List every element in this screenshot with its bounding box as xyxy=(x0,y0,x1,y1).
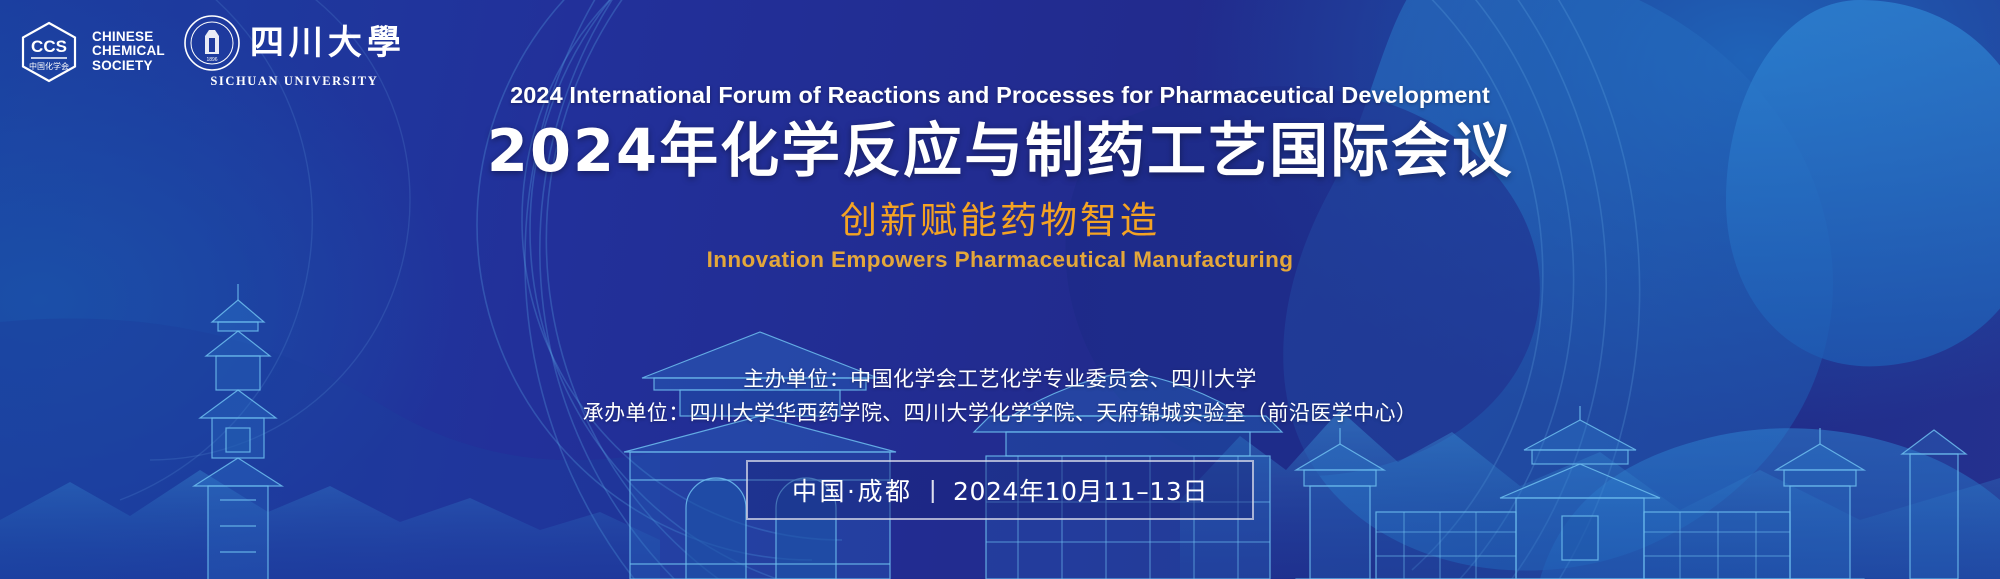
headline-block: 2024 International Forum of Reactions an… xyxy=(0,82,2000,273)
ccs-name-line-3: SOCIETY xyxy=(92,59,165,73)
ccs-name-line-2: CHEMICAL xyxy=(92,44,165,58)
event-info-pill: 中国·成都 | 2024年10月11–13日 xyxy=(746,460,1254,520)
ccs-hex-badge-icon: CCS 中国化学会 xyxy=(18,21,80,83)
host-organizer-line: 主办单位：中国化学会工艺化学专业委员会、四川大学 xyxy=(0,362,2000,396)
tagline-en: Innovation Empowers Pharmaceutical Manuf… xyxy=(0,247,2000,273)
scu-name-cn: 四川大學 xyxy=(250,26,406,60)
svg-text:1896: 1896 xyxy=(206,57,217,63)
organizer-block: 主办单位：中国化学会工艺化学专业委员会、四川大学 承办单位：四川大学华西药学院、… xyxy=(0,362,2000,430)
svg-text:中国化学会: 中国化学会 xyxy=(29,61,69,71)
ccs-logo[interactable]: CCS 中国化学会 CHINESE CHEMICAL SOCIETY xyxy=(18,21,165,83)
conference-title-cn: 2024年化学反应与制药工艺国际会议 xyxy=(0,119,2000,183)
conference-banner: CCS 中国化学会 CHINESE CHEMICAL SOCIETY xyxy=(0,0,2000,579)
sichuan-university-logo[interactable]: 1896 四川大學 SICHUAN UNIVERSITY xyxy=(183,14,406,89)
pill-separator: | xyxy=(929,476,936,505)
scu-seal-icon: 1896 xyxy=(183,14,241,72)
tagline-cn: 创新赋能药物智造 xyxy=(0,201,2000,242)
svg-text:CCS: CCS xyxy=(31,37,67,56)
event-location: 中国·成都 xyxy=(792,472,912,508)
logo-group: CCS 中国化学会 CHINESE CHEMICAL SOCIETY xyxy=(18,14,406,89)
english-forum-title: 2024 International Forum of Reactions an… xyxy=(0,82,2000,109)
event-dates: 2024年10月11–13日 xyxy=(953,472,1208,508)
ccs-wordmark: CHINESE CHEMICAL SOCIETY xyxy=(92,30,165,73)
co-host-organizer-line: 承办单位：四川大学华西药学院、四川大学化学学院、天府锦城实验室（前沿医学中心） xyxy=(0,396,2000,430)
ccs-name-line-1: CHINESE xyxy=(92,30,165,44)
